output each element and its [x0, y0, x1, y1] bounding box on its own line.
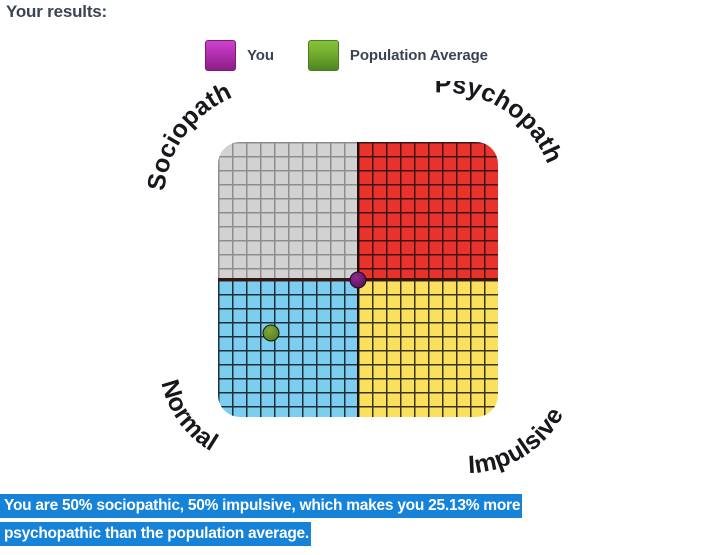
square-swatch-icon-you — [205, 40, 236, 71]
chart-plot-area[interactable] — [218, 142, 498, 417]
quadrant-impulsive — [358, 280, 498, 418]
quadrant-normal — [218, 280, 358, 418]
result-summary: You are 50% sociopathic, 50% impulsive, … — [0, 492, 709, 547]
quadrant-label-normal: Normal — [155, 376, 223, 456]
quadrant-label-normal-text: Normal — [155, 376, 223, 456]
data-point-population-average[interactable] — [263, 325, 280, 342]
quadrant-psychopath — [358, 142, 498, 280]
quadrant-sociopath — [218, 142, 358, 280]
result-line-2: psychopathic than the population average… — [0, 522, 311, 546]
chart-legend: You Population Average — [205, 40, 488, 71]
square-swatch-icon-population-average — [308, 40, 339, 71]
legend-label-you: You — [247, 47, 274, 64]
legend-item-population-average: Population Average — [308, 40, 488, 71]
page-title: Your results: — [6, 2, 107, 22]
result-line-1: You are 50% sociopathic, 50% impulsive, … — [0, 494, 522, 518]
result-line-1-wrap: You are 50% sociopathic, 50% impulsive, … — [0, 492, 709, 519]
legend-item-you: You — [205, 40, 274, 71]
result-line-2-wrap: psychopathic than the population average… — [0, 520, 709, 547]
data-point-you[interactable] — [350, 271, 367, 288]
legend-label-population-average: Population Average — [350, 47, 488, 64]
psychopath-quadrant-chart: Sociopath Psychopath Normal Impulsive — [150, 85, 560, 465]
